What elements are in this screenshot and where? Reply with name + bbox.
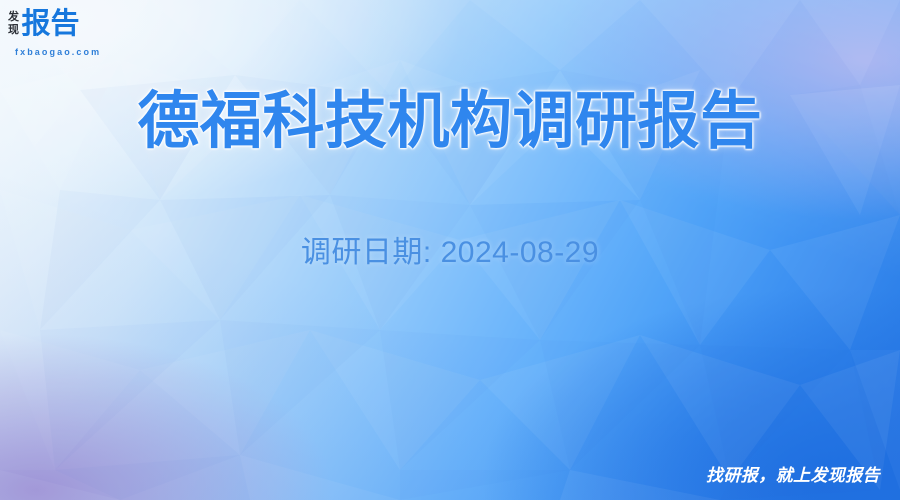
report-cover-slide: 发 现 报告 fxbaogao.com 德福科技机构调研报告 调研日期: 202… (0, 0, 900, 500)
site-logo[interactable]: 发 现 报告 fxbaogao.com (8, 9, 80, 39)
logo-stacked-characters: 发 现 (8, 9, 19, 36)
page-title: 德福科技机构调研报告 (0, 85, 900, 159)
logo-domain-text: fxbaogao.com (15, 47, 101, 57)
logo-stacked-top: 发 (8, 11, 19, 24)
logo-wordmark: 报告 (22, 9, 80, 39)
logo-mark: 发 现 报告 (8, 9, 80, 39)
survey-date-subtitle: 调研日期: 2024-08-29 (0, 233, 900, 273)
footer-slogan: 找研报，就上发现报告 (706, 465, 880, 487)
logo-stacked-bottom: 现 (8, 24, 19, 37)
